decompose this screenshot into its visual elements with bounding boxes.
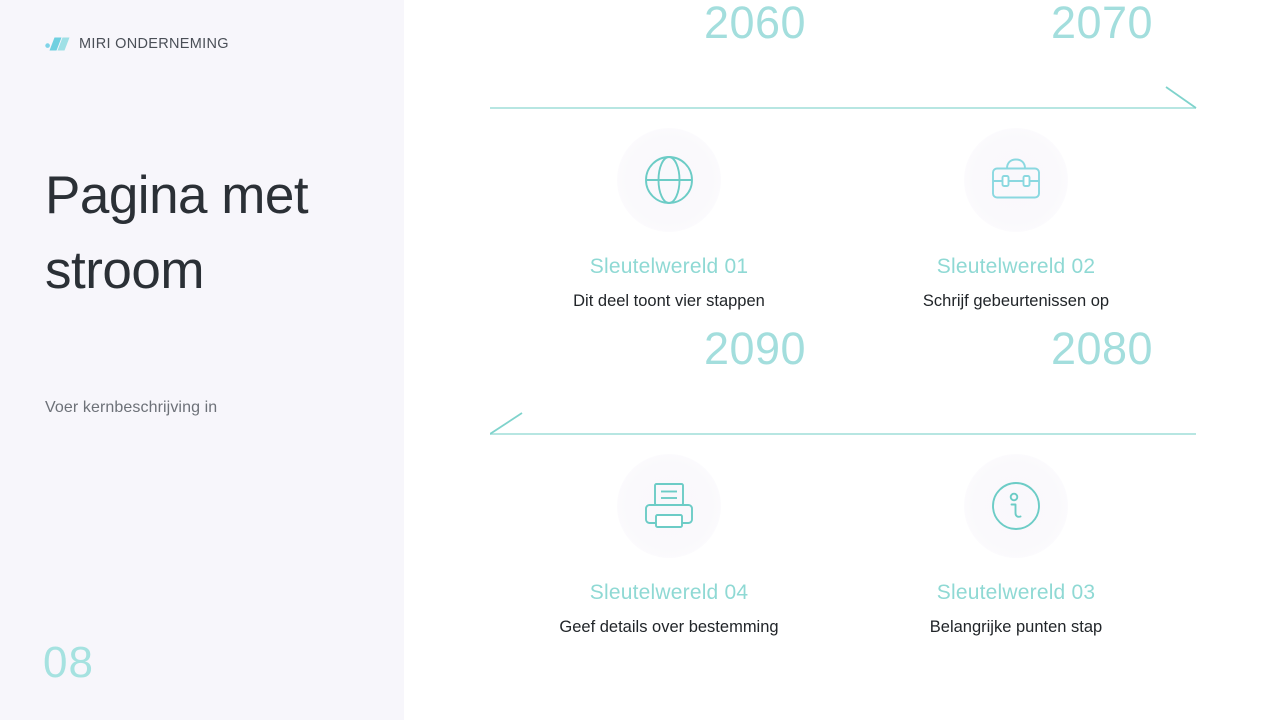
info-circle-icon xyxy=(964,454,1068,558)
miri-slash-mark-icon xyxy=(45,36,71,52)
timeline-axis-right-arrow xyxy=(490,86,1195,130)
printer-icon xyxy=(617,454,721,558)
step-description: Geef details over bestemming xyxy=(539,616,799,638)
step-title: Sleutelwereld 03 xyxy=(886,580,1146,605)
year-label: 2070 xyxy=(982,0,1222,45)
year-label: 2090 xyxy=(635,326,875,371)
slide-canvas: MIRI ONDERNEMING Pagina met stroom Voer … xyxy=(0,0,1280,720)
timeline-axis-left-arrow xyxy=(490,412,1195,456)
page-title: Pagina met stroom xyxy=(45,158,375,309)
brand-name: MIRI ONDERNEMING xyxy=(79,36,229,52)
timeline-step-2[interactable]: Sleutelwereld 02 Schrijf gebeurtenissen … xyxy=(886,128,1146,313)
step-title: Sleutelwereld 01 xyxy=(539,254,799,279)
year-label: 2060 xyxy=(635,0,875,45)
step-title: Sleutelwereld 04 xyxy=(539,580,799,605)
timeline-step-3[interactable]: Sleutelwereld 03 Belangrijke punten stap xyxy=(886,454,1146,639)
step-description: Belangrijke punten stap xyxy=(886,616,1146,638)
brand-lockup: MIRI ONDERNEMING xyxy=(45,36,229,52)
timeline-step-4[interactable]: Sleutelwereld 04 Geef details over beste… xyxy=(539,454,799,639)
step-description: Dit deel toont vier stappen xyxy=(539,290,799,312)
timeline-step-1[interactable]: Sleutelwereld 01 Dit deel toont vier sta… xyxy=(539,128,799,313)
briefcase-icon xyxy=(964,128,1068,232)
year-label: 2080 xyxy=(982,326,1222,371)
step-description: Schrijf gebeurtenissen op xyxy=(886,290,1146,312)
left-panel: MIRI ONDERNEMING Pagina met stroom Voer … xyxy=(0,0,404,720)
year-labels-row-1: 2060 2070 xyxy=(490,0,1195,64)
year-labels-row-2: 2090 2080 xyxy=(490,326,1195,390)
timeline-area: 2060 2070 Sleutelwereld 01 xyxy=(404,0,1280,720)
step-title: Sleutelwereld 02 xyxy=(886,254,1146,279)
page-subtitle: Voer kernbeschrijving in xyxy=(45,399,217,417)
globe-icon xyxy=(617,128,721,232)
page-number: 08 xyxy=(43,638,94,688)
